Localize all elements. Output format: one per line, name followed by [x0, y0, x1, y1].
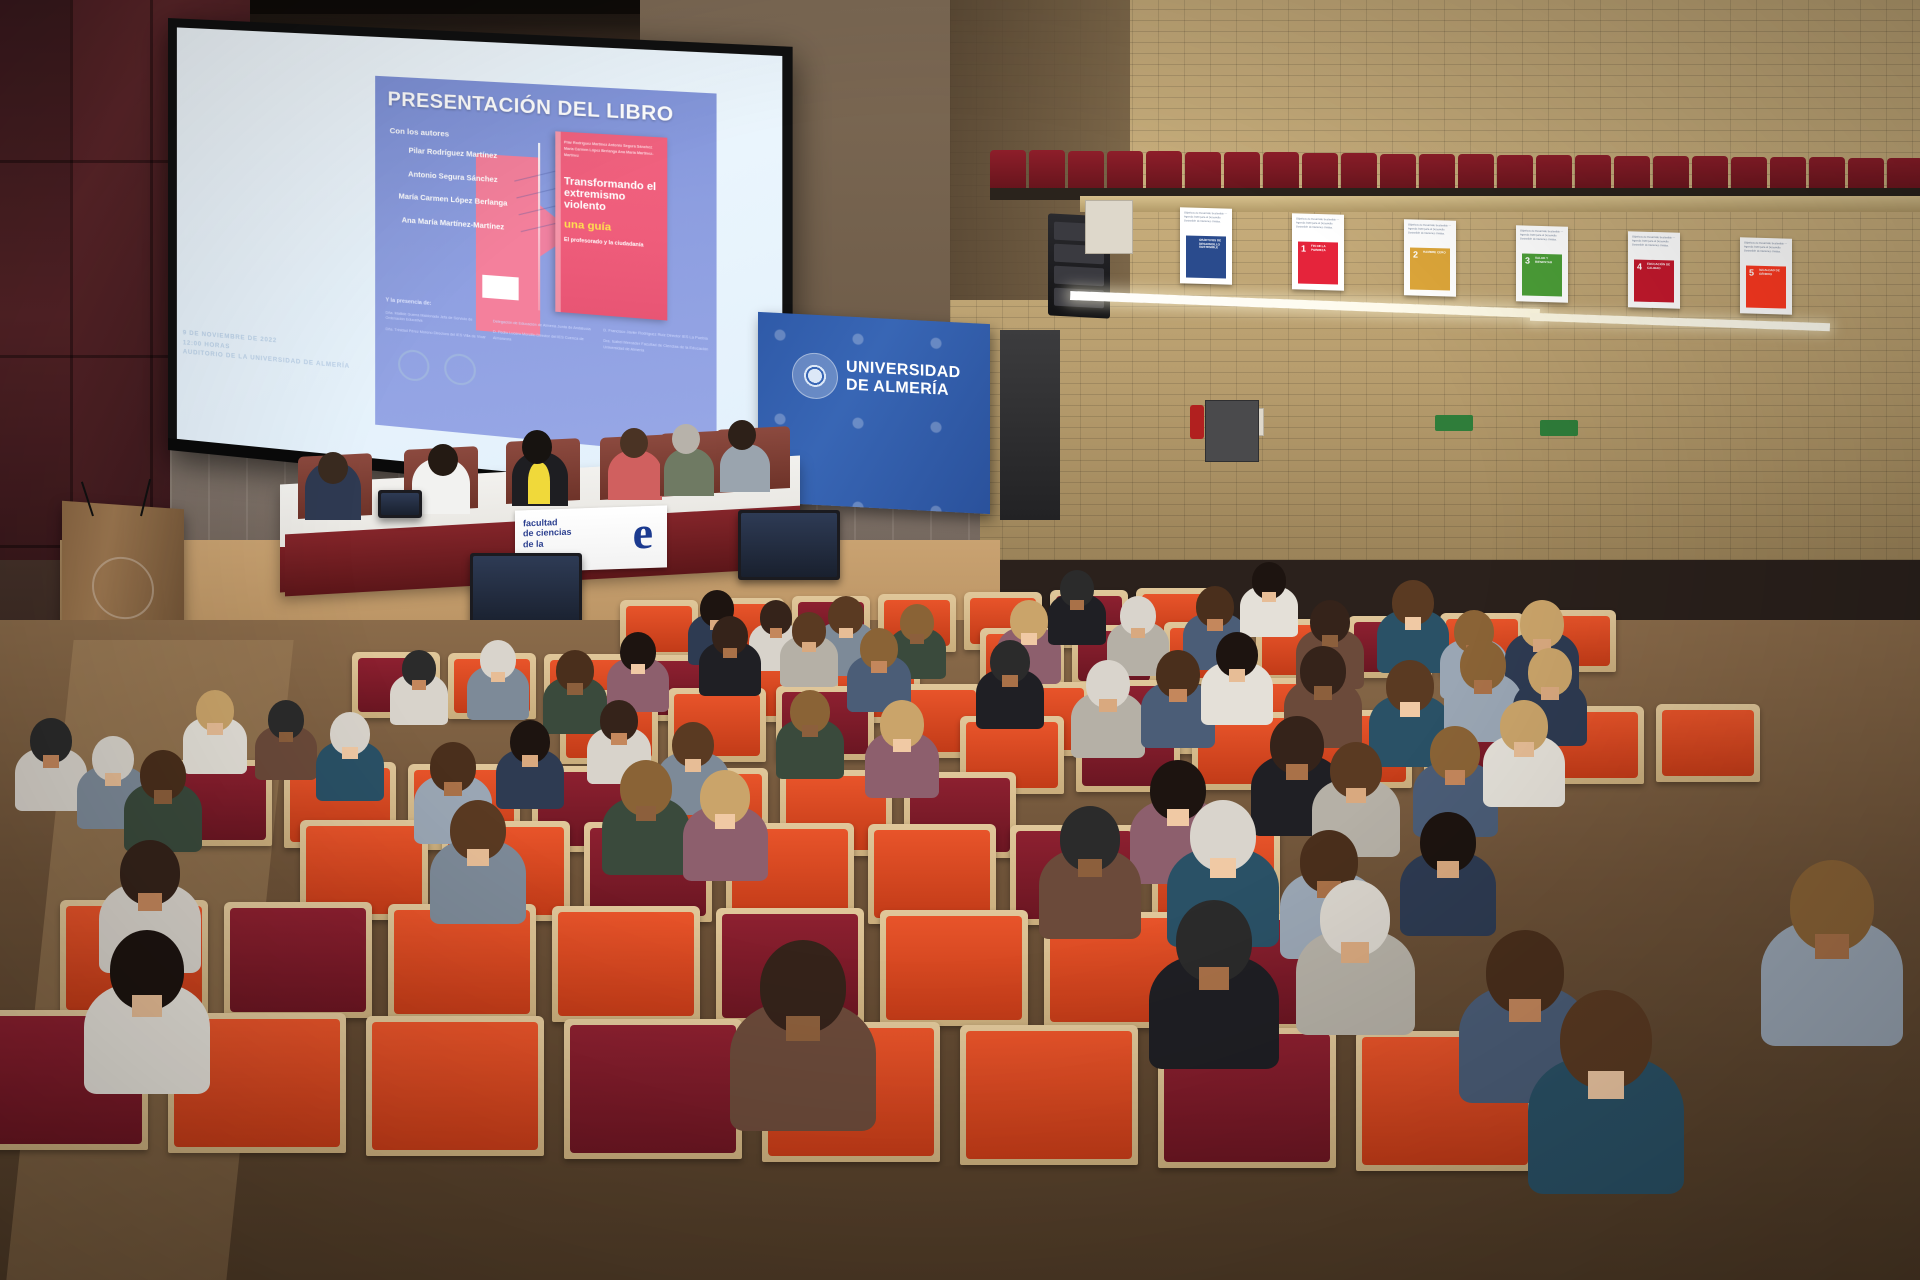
- audience-neck: [1400, 702, 1419, 716]
- audience-neck: [412, 680, 426, 690]
- audience-neck: [1541, 687, 1559, 700]
- audience-neck: [1210, 858, 1236, 878]
- audience-neck: [1815, 934, 1849, 959]
- sdg-number: 2: [1413, 251, 1418, 260]
- audience-neck: [1445, 770, 1465, 785]
- audience-neck: [715, 814, 735, 829]
- seat-cushion: [372, 1022, 538, 1150]
- sdg-poster-3: Objetivos de Desarrollo Sostenible — Age…: [1516, 225, 1568, 302]
- sdg-tile: 3SALUD Y BIENESTAR: [1522, 253, 1562, 296]
- audience-neck: [1514, 742, 1533, 756]
- audience-neck: [279, 732, 293, 743]
- audience-seat: [552, 906, 700, 1022]
- sdg-poster-caption: Objetivos de Desarrollo Sostenible — Age…: [1744, 241, 1788, 264]
- stage-monitor-right: [738, 510, 840, 580]
- stage-monitor-left: [470, 553, 582, 629]
- book-cover-title: Transformando el extremismo violento: [564, 176, 665, 218]
- slide-white-chip: [482, 275, 518, 301]
- audience-neck: [567, 683, 582, 694]
- audience-neck: [1346, 788, 1367, 804]
- book-cover-authors: Pilar Rodríguez Martínez Antonio Segura …: [564, 140, 663, 164]
- book-spine: [555, 131, 560, 312]
- sdg-number: 5: [1749, 269, 1754, 278]
- audience-neck: [1078, 859, 1102, 877]
- audience-neck: [910, 634, 924, 644]
- fire-extinguisher-icon: [1190, 405, 1204, 439]
- audience-seat: [1656, 704, 1760, 782]
- audience-seat: [366, 1016, 544, 1156]
- audience-neck: [1509, 999, 1540, 1022]
- sdg-poster-caption: Objetivos de Desarrollo Sostenible — Age…: [1296, 217, 1340, 240]
- audience-neck: [1167, 809, 1189, 826]
- sdg-tile: 5IGUALDAD DE GÉNERO: [1746, 265, 1786, 308]
- book-cover-footer: El profesorado y la ciudadanía: [564, 237, 665, 251]
- audience-seat: [564, 1019, 742, 1159]
- seat-cushion: [886, 916, 1022, 1020]
- audience-neck: [522, 755, 538, 767]
- slide-presenta-label: Y la presencia de:: [386, 297, 432, 307]
- lectern-seal-icon: [92, 555, 154, 621]
- sdg-poster-1: Objetivos de Desarrollo Sostenible — Age…: [1292, 213, 1344, 290]
- slide-heading: PRESENTACIÓN DEL LIBRO: [388, 89, 712, 130]
- exit-sign-icon: [1540, 420, 1578, 436]
- seat-cushion: [230, 908, 366, 1012]
- audience-seat: [868, 824, 996, 924]
- audience-neck: [871, 661, 886, 672]
- sdg-tile: 4EDUCACIÓN DE CALIDAD: [1634, 259, 1674, 302]
- sponsor-logo-icon: [398, 349, 429, 383]
- audience-neck: [636, 806, 657, 822]
- audience-neck: [1021, 633, 1036, 644]
- audience-neck: [1405, 617, 1422, 630]
- audience-neck: [685, 759, 702, 772]
- slide-event-details: 9 DE NOVIEMBRE DE 2022 12:00 HORAS AUDIT…: [183, 328, 350, 372]
- book-cover-subtitle: una guía: [564, 218, 611, 234]
- sdg-number: 4: [1637, 263, 1642, 272]
- seat-cushion: [558, 912, 694, 1016]
- sdg-label: HAMBRE CERO: [1423, 251, 1448, 255]
- laptop-left: [378, 490, 422, 518]
- credit-entry: Dña. Matilde Guerra Maldonado Jefa de Se…: [386, 311, 487, 330]
- audience-neck: [631, 664, 645, 675]
- faculty-banner-text: facultad de ciencias de la: [523, 517, 572, 550]
- audience-neck: [1262, 592, 1276, 602]
- audience-neck: [1588, 1071, 1625, 1099]
- slide-author: María Carmen López Berlanga: [390, 191, 517, 210]
- audience-neck: [770, 628, 783, 638]
- sdg-poster-4: Objetivos de Desarrollo Sostenible — Age…: [1628, 231, 1680, 308]
- audience-neck: [1207, 619, 1222, 630]
- credit-entry: Dña. Trinidad Pérez Moreno Directora del…: [386, 327, 487, 341]
- slide-author: Antonio Segura Sánchez: [390, 168, 517, 186]
- audience-neck: [105, 773, 122, 786]
- banner-text: UNIVERSIDAD DE ALMERÍA: [846, 359, 961, 401]
- slide-author: Ana María Martínez-Martínez: [390, 214, 517, 233]
- audience-seat: [224, 902, 372, 1018]
- audience-neck: [1199, 967, 1229, 990]
- exit-sign-icon: [1435, 415, 1473, 431]
- sponsor-logo-icon: [444, 353, 476, 387]
- audience-neck: [207, 723, 222, 734]
- sdg-tile: 1FIN DE LA POBREZA: [1298, 241, 1338, 284]
- audience-neck: [802, 725, 818, 737]
- audience-seat: [960, 1025, 1138, 1165]
- audience-neck: [43, 755, 60, 768]
- sdg-label: FIN DE LA POBREZA: [1311, 245, 1336, 253]
- audience-neck: [1437, 861, 1459, 878]
- sdg-poster-5: Objetivos de Desarrollo Sostenible — Age…: [1740, 237, 1792, 314]
- book-cover: Pilar Rodríguez Martínez Antonio Segura …: [555, 131, 667, 320]
- sdg-poster-caption: Objetivos de Desarrollo Sostenible — Age…: [1520, 229, 1564, 252]
- sdg-poster-ods: Objetivos de Desarrollo Sostenible — Age…: [1180, 207, 1232, 284]
- presentation-slide: PRESENTACIÓN DEL LIBRO Con los autores P…: [375, 76, 716, 457]
- audience-neck: [802, 642, 816, 652]
- audience-neck: [1229, 669, 1246, 682]
- sdg-label: SALUD Y BIENESTAR: [1535, 257, 1560, 265]
- audience-neck: [723, 648, 737, 659]
- faculty-line-3: de la: [523, 537, 572, 549]
- audience-neck: [154, 790, 172, 804]
- seat-cushion: [306, 826, 422, 914]
- audience-neck: [1099, 699, 1117, 712]
- wall-equipment-box: [1205, 400, 1259, 462]
- credit-entry: Dra. Isabel Mercader Facultad de Ciencia…: [603, 339, 710, 359]
- audience-neck: [839, 628, 853, 639]
- audience-neck: [1286, 764, 1308, 780]
- audience-neck: [1169, 689, 1187, 702]
- audience-neck: [138, 893, 162, 911]
- audience-neck: [1070, 600, 1084, 610]
- audience-neck: [611, 733, 626, 744]
- audience-neck: [1002, 675, 1018, 687]
- side-door: [1000, 330, 1060, 520]
- audience-neck: [1314, 686, 1332, 700]
- audience-neck: [893, 739, 911, 752]
- credit-entry: D. Pedro Lucero Morcillo Director del IE…: [493, 330, 597, 350]
- sdg-poster-caption: Objetivos de Desarrollo Sostenible — Age…: [1408, 223, 1452, 246]
- sdg-label: EDUCACIÓN DE CALIDAD: [1647, 263, 1672, 271]
- sdg-poster-caption: Objetivos de Desarrollo Sostenible — Age…: [1184, 211, 1228, 234]
- auditorium-photo: PRESENTACIÓN DEL LIBRO Con los autores P…: [0, 0, 1920, 1280]
- seat-cushion: [874, 830, 990, 918]
- seat-cushion: [570, 1025, 736, 1153]
- seat-cushion: [966, 1031, 1132, 1159]
- sdg-poster-caption: Objetivos de Desarrollo Sostenible — Age…: [1632, 235, 1676, 258]
- audience-neck: [1131, 628, 1145, 639]
- seat-cushion: [394, 910, 530, 1014]
- sdg-label: IGUALDAD DE GÉNERO: [1759, 269, 1784, 277]
- faculty-logo-letter: e: [633, 510, 653, 557]
- slide-authors-label: Con los autores: [390, 126, 449, 139]
- audience-neck: [132, 995, 162, 1017]
- audience-neck: [491, 672, 505, 683]
- audience-neck: [342, 747, 358, 759]
- audience-neck: [1474, 680, 1492, 694]
- sdg-number: 3: [1525, 257, 1530, 266]
- seat-cushion: [1662, 710, 1754, 776]
- slide-author-list: Pilar Rodríguez Martínez Antonio Segura …: [390, 144, 517, 247]
- slide-author: Pilar Rodríguez Martínez: [390, 144, 517, 162]
- wall-panel-box: [1085, 200, 1133, 254]
- audience-neck: [444, 782, 462, 796]
- sdg-poster-2: Objetivos de Desarrollo Sostenible — Age…: [1404, 219, 1456, 296]
- faculty-line-2: de ciencias: [523, 527, 572, 539]
- sdg-tile: 2HAMBRE CERO: [1410, 247, 1450, 290]
- audience-seat: [880, 910, 1028, 1026]
- audience-neck: [467, 849, 489, 866]
- sdg-tile: OBJETIVOS DE DESARROLLO SOSTENIBLE: [1186, 235, 1226, 278]
- sdg-label: OBJETIVOS DE DESARROLLO SOSTENIBLE: [1199, 239, 1224, 250]
- audience-neck: [1341, 942, 1369, 963]
- audience-neck: [786, 1016, 820, 1042]
- sdg-number: 1: [1301, 245, 1306, 254]
